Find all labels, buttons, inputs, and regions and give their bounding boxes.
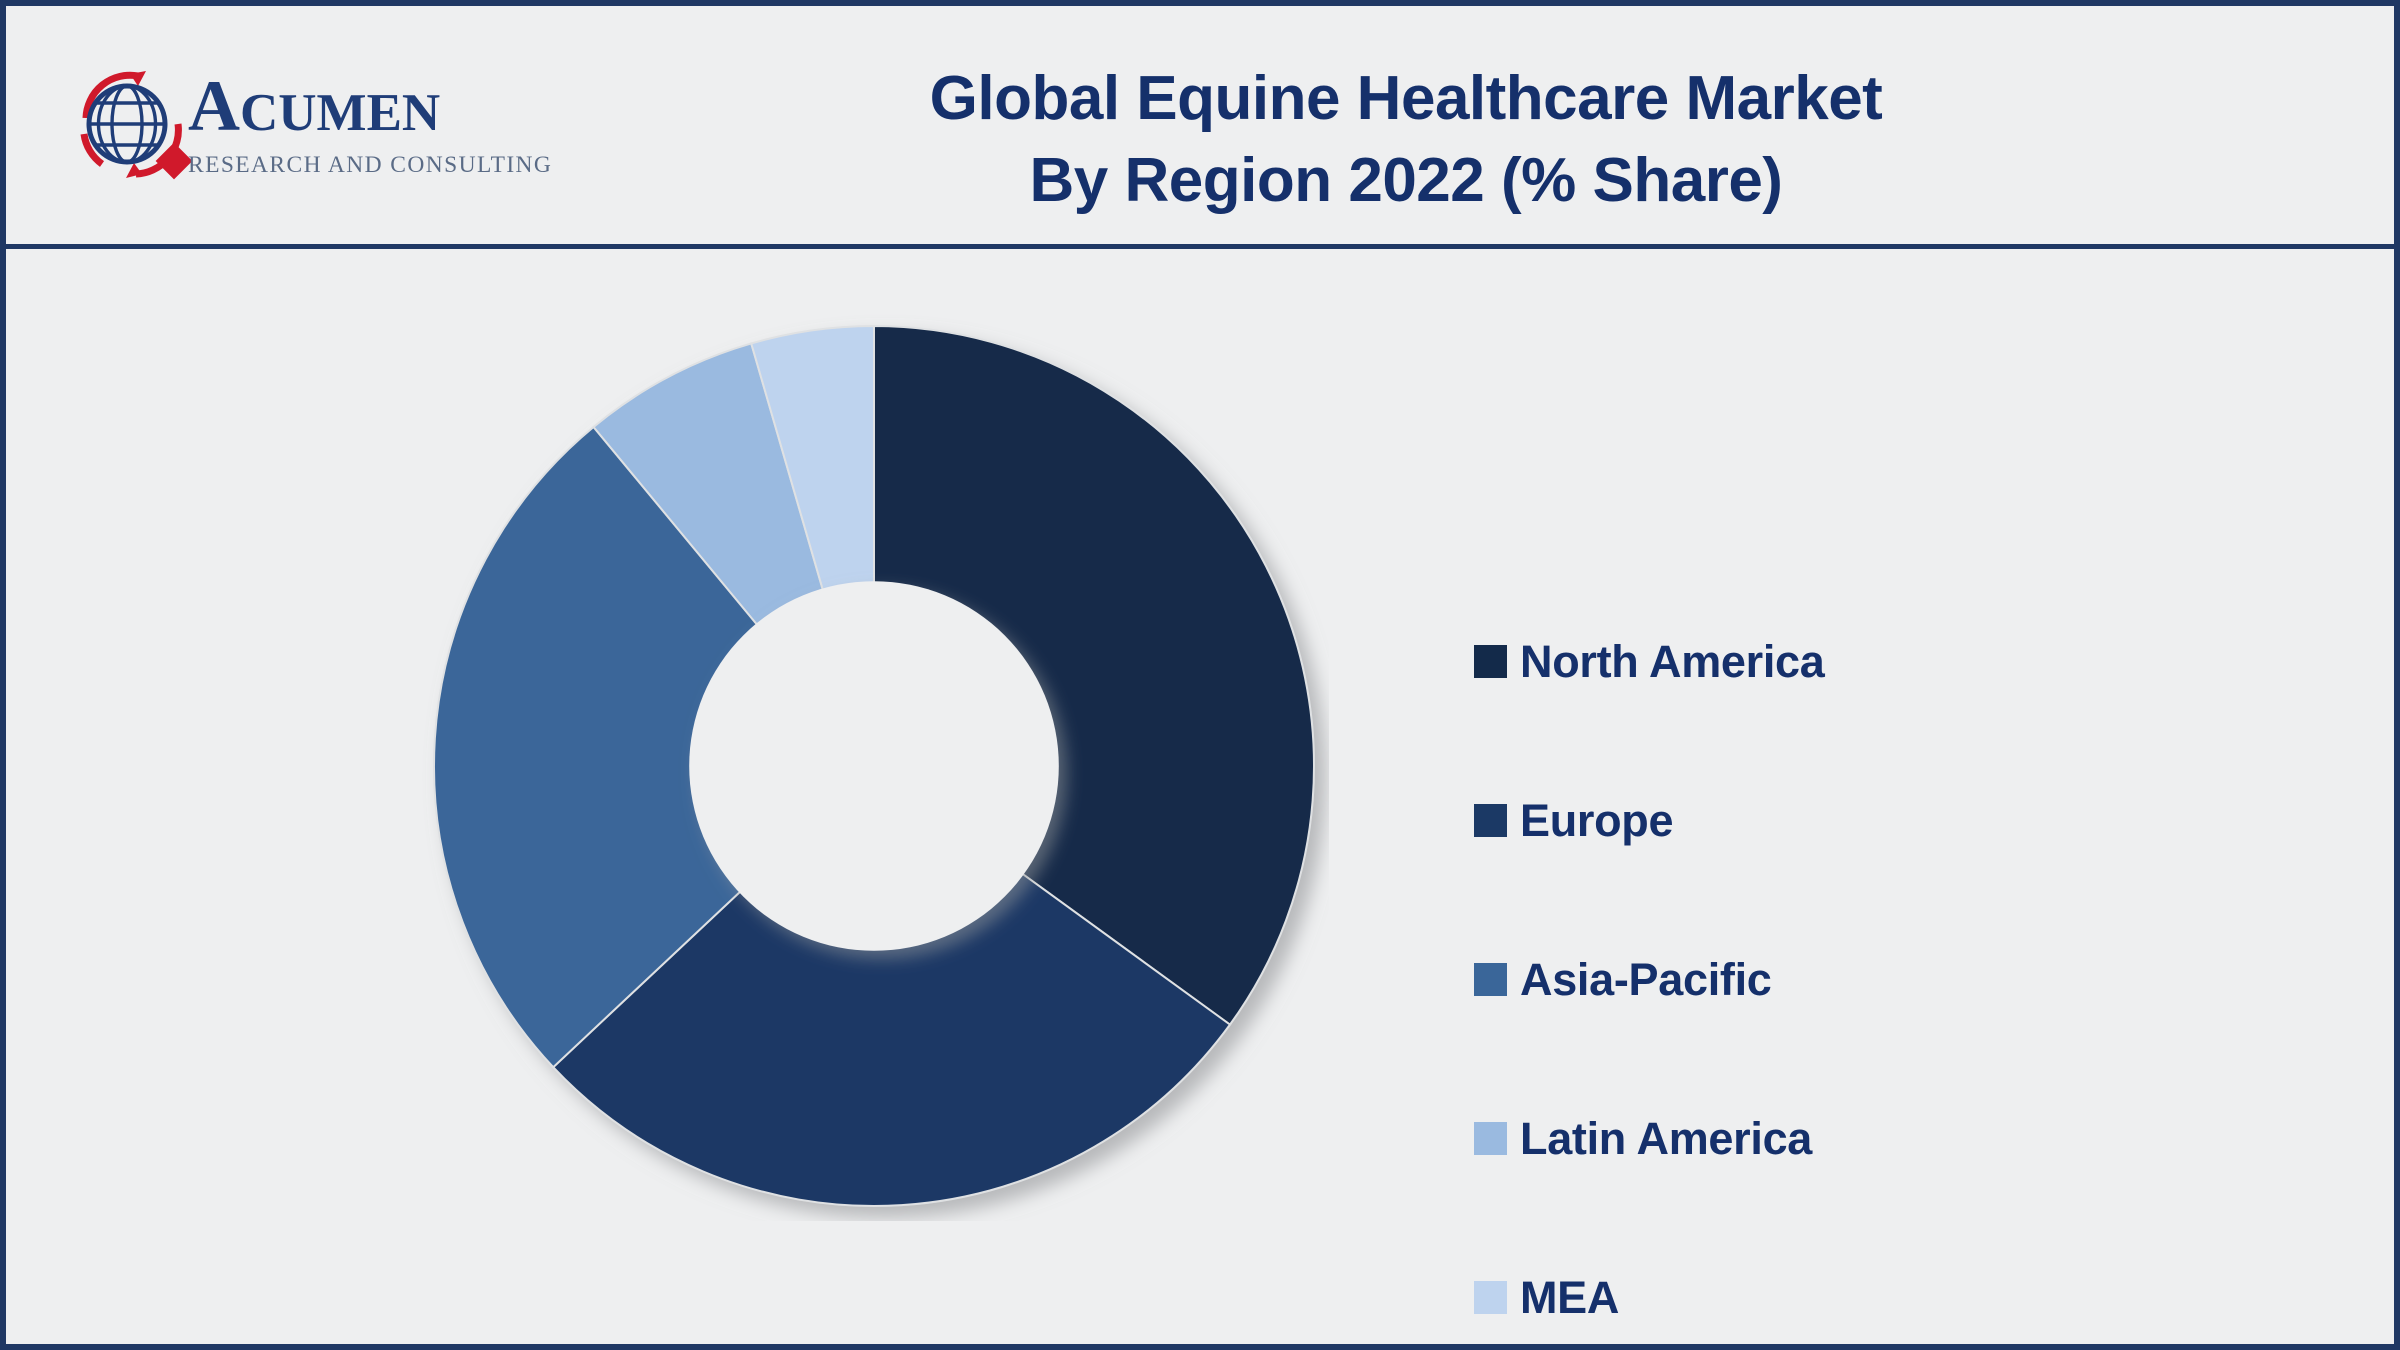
chart-legend: North America Europe Asia-Pacific Latin … xyxy=(1474,582,2114,1350)
chart-title-line-1: Global Equine Healthcare Market xyxy=(626,58,2186,140)
legend-label: MEA xyxy=(1520,1272,1619,1324)
chart-title: Global Equine Healthcare Market By Regio… xyxy=(626,58,2186,222)
legend-label: Latin America xyxy=(1520,1113,1812,1165)
donut-center-hole xyxy=(689,581,1059,951)
legend-item-latin-america[interactable]: Latin America xyxy=(1474,1059,2114,1218)
logo-name: ACUMEN xyxy=(188,68,508,151)
legend-label: North America xyxy=(1520,636,1825,688)
logo-name-capital: A xyxy=(188,66,240,146)
donut-chart xyxy=(419,311,1329,1221)
legend-swatch-icon xyxy=(1474,804,1507,837)
legend-label: Europe xyxy=(1520,795,1673,847)
logo-wordmark: ACUMEN RESEARCH AND CONSULTING xyxy=(188,68,508,179)
chart-page: ACUMEN RESEARCH AND CONSULTING Global Eq… xyxy=(0,0,2400,1350)
legend-label: Asia-Pacific xyxy=(1520,954,1772,1006)
legend-swatch-icon xyxy=(1474,963,1507,996)
chart-area: North America Europe Asia-Pacific Latin … xyxy=(6,249,2400,1350)
legend-swatch-icon xyxy=(1474,1281,1507,1314)
header-band: ACUMEN RESEARCH AND CONSULTING Global Eq… xyxy=(6,6,2400,249)
legend-item-north-america[interactable]: North America xyxy=(1474,582,2114,741)
logo-tagline: RESEARCH AND CONSULTING xyxy=(188,152,508,179)
legend-item-europe[interactable]: Europe xyxy=(1474,741,2114,900)
legend-item-asia-pacific[interactable]: Asia-Pacific xyxy=(1474,900,2114,1059)
logo-name-rest: CUMEN xyxy=(240,84,440,142)
legend-item-mea[interactable]: MEA xyxy=(1474,1218,2114,1350)
acumen-logo: ACUMEN RESEARCH AND CONSULTING xyxy=(68,58,498,198)
legend-swatch-icon xyxy=(1474,645,1507,678)
chart-title-line-2: By Region 2022 (% Share) xyxy=(626,140,2186,222)
legend-swatch-icon xyxy=(1474,1122,1507,1155)
globe-icon xyxy=(68,62,196,190)
